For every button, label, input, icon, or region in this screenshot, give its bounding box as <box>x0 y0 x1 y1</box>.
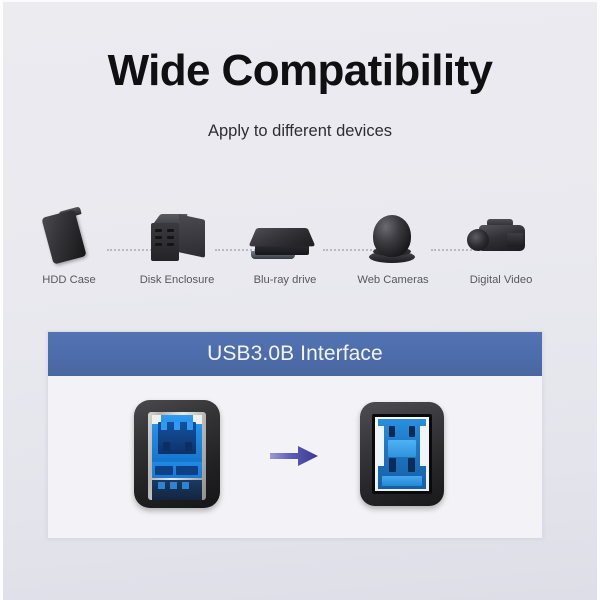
device-item-bluray-drive: Blu-ray drive <box>237 207 333 299</box>
hdd-case-icon <box>21 207 117 269</box>
device-label: HDD Case <box>9 273 129 288</box>
page-subtitle: Apply to different devices <box>3 120 597 142</box>
device-label: Disk Enclosure <box>117 273 237 288</box>
device-label: Digital Video <box>441 273 561 288</box>
device-item-hdd-case: HDD Case <box>21 207 117 299</box>
compatible-devices-strip: HDD Case Disk Enclosure <box>21 207 585 299</box>
product-feature-poster: Wide Compatibility Apply to different de… <box>0 0 600 600</box>
web-camera-icon <box>345 207 441 269</box>
usb-interface-card: USB3.0B Interface <box>47 331 543 538</box>
device-item-disk-enclosure: Disk Enclosure <box>129 207 225 299</box>
digital-video-camera-icon <box>453 207 549 269</box>
page-title: Wide Compatibility <box>3 45 597 97</box>
right-arrow-icon <box>266 442 322 470</box>
device-item-web-cameras: Web Cameras <box>345 207 441 299</box>
bluray-drive-icon <box>237 207 333 269</box>
device-item-digital-video: Digital Video <box>453 207 549 299</box>
disk-enclosure-icon <box>129 207 225 269</box>
card-banner-title: USB3.0B Interface <box>48 332 542 376</box>
usb3-type-b-port-icon <box>356 400 448 512</box>
card-body <box>48 376 542 538</box>
device-label: Web Cameras <box>333 273 453 288</box>
device-label: Blu-ray drive <box>225 273 345 288</box>
usb3-type-b-plug-icon <box>134 400 226 512</box>
